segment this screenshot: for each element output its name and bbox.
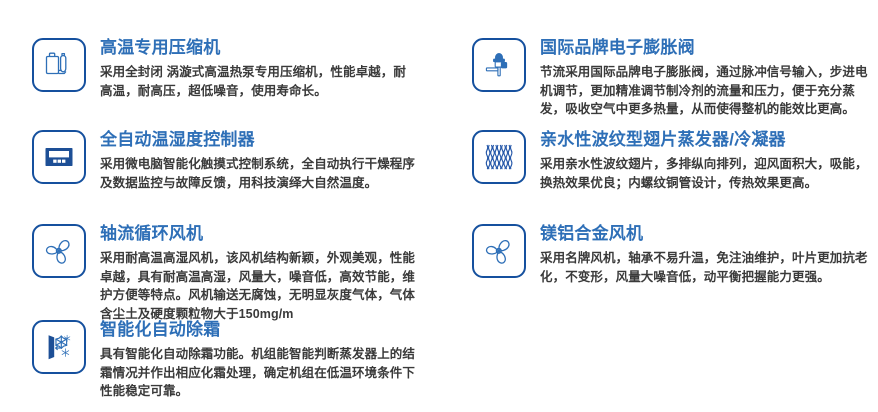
feature-card-auto-defrost: 智能化自动除霜 具有智能化自动除霜功能。机组能智能判断蒸发器上的结霜情况并作出相…	[14, 318, 454, 401]
feature-description: 具有智能化自动除霜功能。机组能智能判断蒸发器上的结霜情况并作出相应化霜处理，确定…	[100, 345, 418, 401]
feature-title: 轴流循环风机	[100, 223, 418, 244]
feature-title: 全自动温湿度控制器	[100, 129, 418, 150]
feature-body: 亲水性波纹型翅片蒸发器/冷凝器 采用亲水性波纹翅片，多排纵向排列，迎风面积大，吸…	[540, 128, 870, 192]
fan-blade-icon	[472, 224, 526, 278]
feature-body: 全自动温湿度控制器 采用微电脑智能化触摸式控制系统，全自动执行干燥程序及数据监控…	[100, 128, 418, 192]
feature-title: 高温专用压缩机	[100, 37, 418, 58]
feature-body: 镁铝合金风机 采用名牌风机，轴承不易升温，免注油维护，叶片更加抗老化，不变形，风…	[540, 222, 870, 286]
feature-body: 国际品牌电子膨胀阀 节流采用国际品牌电子膨胀阀，通过脉冲信号输入，步进电机调节，…	[540, 36, 870, 119]
feature-card-compressor: 高温专用压缩机 采用全封闭 涡漩式高温热泵专用压缩机，性能卓越，耐高温，耐高压，…	[14, 36, 454, 100]
feature-description: 采用耐高温高湿风机，该风机结构新颖，外观美观，性能卓越，具有耐高温高湿，风量大，…	[100, 249, 418, 323]
feature-card-expansion-valve: 国际品牌电子膨胀阀 节流采用国际品牌电子膨胀阀，通过脉冲信号输入，步进电机调节，…	[454, 36, 878, 119]
feature-card-mg-al-fan: 镁铝合金风机 采用名牌风机，轴承不易升温，免注油维护，叶片更加抗老化，不变形，风…	[454, 222, 878, 286]
feature-description: 节流采用国际品牌电子膨胀阀，通过脉冲信号输入，步进电机调节，更加精准调节制冷剂的…	[540, 63, 870, 119]
feature-card-controller: 全自动温湿度控制器 采用微电脑智能化触摸式控制系统，全自动执行干燥程序及数据监控…	[14, 128, 454, 192]
fan-blade-icon	[32, 224, 86, 278]
feature-description: 采用亲水性波纹翅片，多排纵向排列，迎风面积大，吸能，换热效果优良；内螺纹铜管设计…	[540, 155, 870, 192]
feature-title: 亲水性波纹型翅片蒸发器/冷凝器	[540, 129, 870, 150]
corrugated-fin-icon	[472, 130, 526, 184]
feature-body: 智能化自动除霜 具有智能化自动除霜功能。机组能智能判断蒸发器上的结霜情况并作出相…	[100, 318, 418, 401]
controller-panel-icon	[32, 130, 86, 184]
feature-description: 采用全封闭 涡漩式高温热泵专用压缩机，性能卓越，耐高温，耐高压，超低噪音，使用寿…	[100, 63, 418, 100]
feature-title: 国际品牌电子膨胀阀	[540, 37, 870, 58]
feature-description: 采用微电脑智能化触摸式控制系统，全自动执行干燥程序及数据监控与故障反馈，用科技演…	[100, 155, 418, 192]
snowflake-defrost-icon	[32, 320, 86, 374]
feature-title: 智能化自动除霜	[100, 319, 418, 340]
feature-title: 镁铝合金风机	[540, 223, 870, 244]
feature-body: 高温专用压缩机 采用全封闭 涡漩式高温热泵专用压缩机，性能卓越，耐高温，耐高压，…	[100, 36, 418, 100]
feature-card-fin-exchanger: 亲水性波纹型翅片蒸发器/冷凝器 采用亲水性波纹翅片，多排纵向排列，迎风面积大，吸…	[454, 128, 878, 192]
feature-card-axial-fan: 轴流循环风机 采用耐高温高湿风机，该风机结构新颖，外观美观，性能卓越，具有耐高温…	[14, 222, 454, 323]
compressor-icon	[32, 38, 86, 92]
expansion-valve-icon	[472, 38, 526, 92]
feature-description: 采用名牌风机，轴承不易升温，免注油维护，叶片更加抗老化，不变形，风量大噪音低，动…	[540, 249, 870, 286]
features-grid: 高温专用压缩机 采用全封闭 涡漩式高温热泵专用压缩机，性能卓越，耐高温，耐高压，…	[0, 0, 878, 412]
feature-body: 轴流循环风机 采用耐高温高湿风机，该风机结构新颖，外观美观，性能卓越，具有耐高温…	[100, 222, 418, 323]
